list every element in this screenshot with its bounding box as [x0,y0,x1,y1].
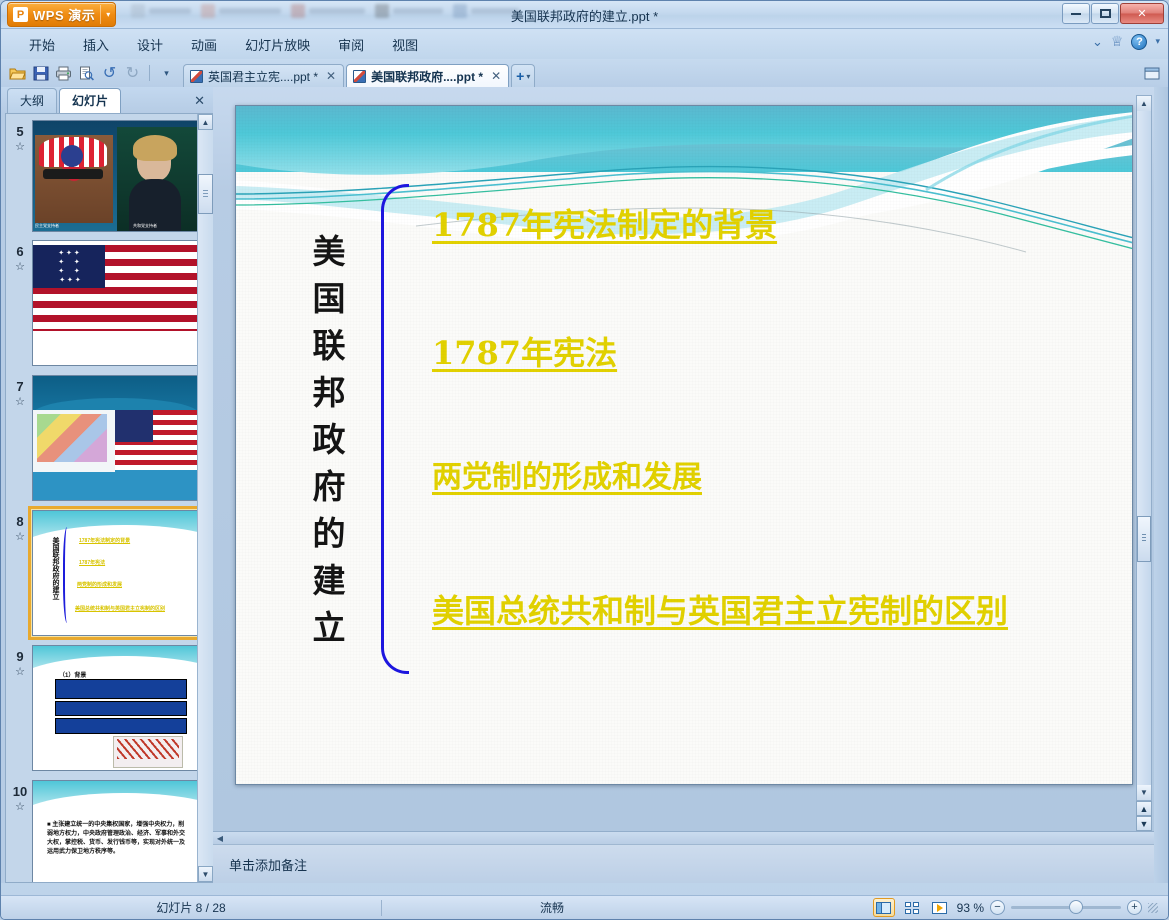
undo-button[interactable]: ↺ [99,63,120,84]
slide-counter: 幻灯片 8 / 28 [1,899,381,916]
plus-icon: + [516,68,524,84]
thumbnail-image: 美国联邦政府的建立 1787年宪法制定的背景 1787年宪法 两党制的形成和发展… [32,510,200,636]
slide-item-link-1[interactable]: 1787年宪法制定的背景 [432,200,1122,246]
slideshow-view-button[interactable] [929,898,951,917]
scroll-up-button[interactable]: ▲ [1137,96,1151,111]
thumbnail-scrollbar[interactable]: ▲ ▼ [197,114,213,882]
scroll-down-button[interactable]: ▼ [1137,785,1151,800]
quick-access-and-document-tabs: ↺ ↻ ▾ 英国君主立宪....ppt * ✕ 美国联邦政府....ppt * … [1,59,1168,87]
normal-view-icon [876,902,891,914]
chevron-down-icon[interactable]: ▾ [106,10,113,19]
zoom-slider[interactable] [1011,906,1121,909]
redo-button[interactable]: ↻ [122,63,143,84]
notes-horizontal-scrollbar[interactable]: ◀ [213,832,1154,845]
minimize-icon [1071,12,1081,15]
thumbnail-wave-decoration [33,781,199,805]
menu-bar-right-controls: ⌄ ♕ ? ▾ [1092,33,1160,50]
wps-presentation-window: P WPS 演示 ▾ 美国联邦政府的建立.ppt * ✕ 开始 插入 设计 动画… [0,0,1169,920]
ribbon-toggle-button[interactable] [1144,67,1160,83]
right-gutter [1154,87,1168,883]
star-icon: ☆ [10,530,30,543]
thumbnail-image: 民主党支持者 共和党支持者 [32,120,200,232]
zoom-in-button[interactable]: + [1127,900,1142,915]
slide-canvas-area[interactable]: 美国联邦政府的建立 1787年宪法制定的背景 1787年宪法 两党制的形成和发展… [213,87,1154,831]
star-icon: ☆ [10,395,30,408]
current-slide[interactable]: 美国联邦政府的建立 1787年宪法制定的背景 1787年宪法 两党制的形成和发展… [235,105,1133,785]
slide-navigation-buttons: ▲ ▼ [1136,801,1152,831]
qat-more-button[interactable]: ▾ [156,63,177,84]
chevron-down-icon[interactable]: ⌄ [1092,34,1103,50]
wps-app-button[interactable]: P WPS 演示 ▾ [7,2,116,27]
quick-access-toolbar: ↺ ↻ ▾ [7,61,177,87]
thumbnail-number: 9 [10,649,30,664]
star-icon: ☆ [10,260,30,273]
thumbnail-image: ■ 主张建立统一的中央集权国家，增强中央权力，削弱地方权力，中央政府管理政治、经… [32,780,200,883]
slide-item-link-3[interactable]: 两党制的形成和发展 [432,452,1122,496]
menu-bar: 开始 插入 设计 动画 幻灯片放映 审阅 视图 ⌄ ♕ ? ▾ [1,29,1168,59]
thumbnail-number: 5 [10,124,30,139]
close-icon[interactable]: ✕ [491,69,501,83]
new-tab-button[interactable]: + ▾ [511,64,535,87]
thumbnail-vertical-title: 美国联邦政府的建立 [47,537,59,600]
document-tab-label: 美国联邦政府....ppt * [371,68,483,85]
tab-slides[interactable]: 幻灯片 [59,88,121,113]
app-button-separator [100,5,101,24]
menu-item-review[interactable]: 审阅 [324,32,378,57]
maximize-button[interactable] [1091,3,1119,24]
zoom-out-button[interactable]: − [990,900,1005,915]
thumbnail-line: 两党制的形成和发展 [77,581,122,588]
menu-item-animation[interactable]: 动画 [177,32,231,57]
resize-grip[interactable] [1148,903,1158,913]
ghost-item [453,4,519,18]
thumbnail-wave-decoration [33,511,199,537]
menu-item-view[interactable]: 视图 [378,32,432,57]
thumbnail-slide-8[interactable]: 8 ☆ 美国联邦政府的建立 1787年宪法制定的背景 1787年宪法 两党制的形… [6,508,197,643]
document-tabs: 英国君主立宪....ppt * ✕ 美国联邦政府....ppt * ✕ + ▾ [183,64,535,87]
scroll-up-button[interactable]: ▲ [198,114,213,130]
open-button[interactable] [7,63,28,84]
zoom-slider-handle[interactable] [1069,900,1083,914]
star-icon: ☆ [10,665,30,678]
status-bar: 幻灯片 8 / 28 流畅 93 % − + [1,895,1168,919]
slides-pane-tabs: 大纲 幻灯片 ✕ [1,87,213,113]
thumbnail-number: 10 [10,784,30,799]
normal-view-button[interactable] [873,898,895,917]
ghost-item [291,4,365,18]
thumbnail-wave-decoration [33,646,199,668]
slide-vertical-title[interactable]: 美国联邦政府的建立 [310,234,343,657]
chevron-down-icon[interactable]: ▾ [526,72,530,81]
thumbnail-slide-6[interactable]: 6 ☆ ✦ ✦ ✦✦ ✦✦ ✦ ✦ ✦ ✦ [6,238,197,373]
thumbnail-slide-5[interactable]: 5 ☆ 民主党支持者 共 [6,118,197,238]
slide-sorter-view-button[interactable] [901,898,923,917]
close-pane-icon[interactable]: ✕ [194,93,205,109]
wps-app-button-label: WPS 演示 [33,5,95,24]
title-bar: P WPS 演示 ▾ 美国联邦政府的建立.ppt * ✕ [1,1,1168,29]
previous-slide-button[interactable]: ▲ [1136,801,1152,816]
document-tab-label: 英国君主立宪....ppt * [208,68,318,85]
thumbnail-number: 7 [10,379,30,394]
ghost-item [131,4,191,18]
star-icon: ☆ [10,140,30,153]
tab-outline[interactable]: 大纲 [7,88,57,113]
menu-item-design[interactable]: 设计 [123,32,177,57]
thumbnail-heading: （1）背景 [59,670,86,679]
help-icon[interactable]: ? [1131,34,1147,50]
close-icon[interactable]: ✕ [326,69,336,83]
print-button[interactable] [53,63,74,84]
qat-separator [149,65,150,81]
menu-item-slideshow[interactable]: 幻灯片放映 [231,32,324,57]
workspace: 大纲 幻灯片 ✕ 5 ☆ [1,87,1168,883]
skin-icon[interactable]: ♕ [1111,33,1124,50]
help-chevron-down-icon[interactable]: ▾ [1155,36,1160,47]
slide-brace-shape [381,184,409,674]
slide-item-link-2[interactable]: 1787年宪法 [432,328,1122,374]
ppt-file-icon [190,70,203,83]
thumbnail-line: 1787年宪法 [79,559,105,566]
background-taskbar-ghosts [131,4,519,18]
thumbnail-number: 8 [10,514,30,529]
slide-vertical-scrollbar[interactable]: ▲ ▼ [1136,95,1152,801]
thumbnail-slide-10[interactable]: 10 ☆ ■ 主张建立统一的中央集权国家，增强中央权力，削弱地方权力，中央政府管… [6,778,197,883]
ppt-file-icon [353,70,366,83]
window-controls: ✕ [1061,3,1164,24]
print-preview-button[interactable] [76,63,97,84]
scroll-down-button[interactable]: ▼ [198,866,213,882]
document-tab-uk[interactable]: 英国君主立宪....ppt * ✕ [183,64,344,87]
notes-placeholder[interactable]: 单击添加备注 [213,845,1154,874]
thumbnail-slide-7[interactable]: 7 ☆ [6,373,197,508]
scroll-left-button[interactable]: ◀ [213,832,227,844]
thumbnail-slide-9[interactable]: 9 ☆ （1）背景 [6,643,197,778]
close-icon: ✕ [1137,7,1146,20]
maximize-icon [1100,9,1111,18]
menu-item-insert[interactable]: 插入 [69,32,123,57]
notes-pane[interactable]: ◀ 单击添加备注 [213,831,1154,883]
zoom-level-label: 93 % [957,901,984,915]
slide-editor: 美国联邦政府的建立 1787年宪法制定的背景 1787年宪法 两党制的形成和发展… [213,87,1154,883]
close-button[interactable]: ✕ [1120,3,1164,24]
document-tab-us[interactable]: 美国联邦政府....ppt * ✕ [346,64,509,87]
thumbnail-container: 5 ☆ 民主党支持者 共 [6,114,197,882]
thumbnail-image: （1）背景 [32,645,200,771]
minimize-button[interactable] [1062,3,1090,24]
ghost-item [201,4,281,18]
scrollbar-thumb[interactable] [1137,516,1151,562]
slide-thumbnail-list[interactable]: 5 ☆ 民主党支持者 共 [5,113,213,883]
star-icon: ☆ [10,800,30,813]
slide-item-list: 1787年宪法制定的背景 1787年宪法 两党制的形成和发展 美国总统共和制与英… [432,186,1122,632]
wps-presentation-icon: P [13,7,28,22]
thumbnail-brace [63,527,73,623]
status-mode-label: 流畅 [382,899,722,916]
slides-pane: 大纲 幻灯片 ✕ 5 ☆ [1,87,213,883]
thumbnail-line: 美国总统共和制与英国君主立宪制的区别 [75,605,165,612]
next-slide-button[interactable]: ▼ [1136,816,1152,831]
thumbnail-image [32,375,200,501]
thumbnail-image: ✦ ✦ ✦✦ ✦✦ ✦ ✦ ✦ ✦ [32,240,200,366]
slide-sorter-icon [905,902,919,914]
ghost-item [375,4,443,18]
save-button[interactable] [30,63,51,84]
thumbnail-line: 1787年宪法制定的背景 [79,537,130,544]
menu-item-start[interactable]: 开始 [15,32,69,57]
slide-item-link-4[interactable]: 美国总统共和制与英国君主立宪制的区别 [432,586,1122,632]
slideshow-icon [932,902,947,914]
thumbnail-number: 6 [10,244,30,259]
scrollbar-thumb[interactable] [198,174,213,214]
status-bar-right: 93 % − + [873,898,1168,917]
